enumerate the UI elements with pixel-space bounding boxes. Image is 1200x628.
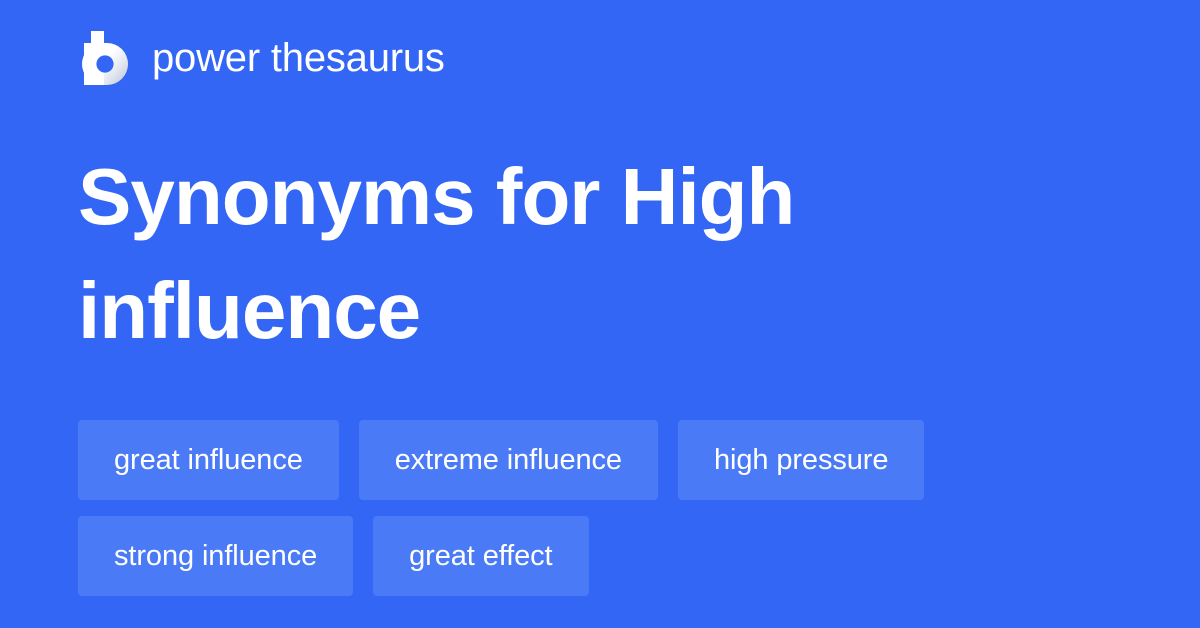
synonym-chip[interactable]: great influence <box>78 420 339 500</box>
synonym-chip-list: great influence extreme influence high p… <box>78 420 1138 596</box>
power-thesaurus-b-logo-icon <box>78 31 130 85</box>
page-title-line-2: influence <box>78 254 1078 368</box>
brand-lockup[interactable]: power thesaurus <box>78 28 445 88</box>
page-title-line-1: Synonyms for High <box>78 140 1078 254</box>
synonym-chip[interactable]: great effect <box>373 516 588 596</box>
synonym-chip[interactable]: strong influence <box>78 516 353 596</box>
synonym-chip[interactable]: high pressure <box>678 420 924 500</box>
synonym-chip[interactable]: extreme influence <box>359 420 658 500</box>
brand-name: power thesaurus <box>152 38 445 78</box>
share-card: power thesaurus Synonyms for High influe… <box>0 0 1200 628</box>
page-title: Synonyms for High influence <box>78 140 1078 368</box>
